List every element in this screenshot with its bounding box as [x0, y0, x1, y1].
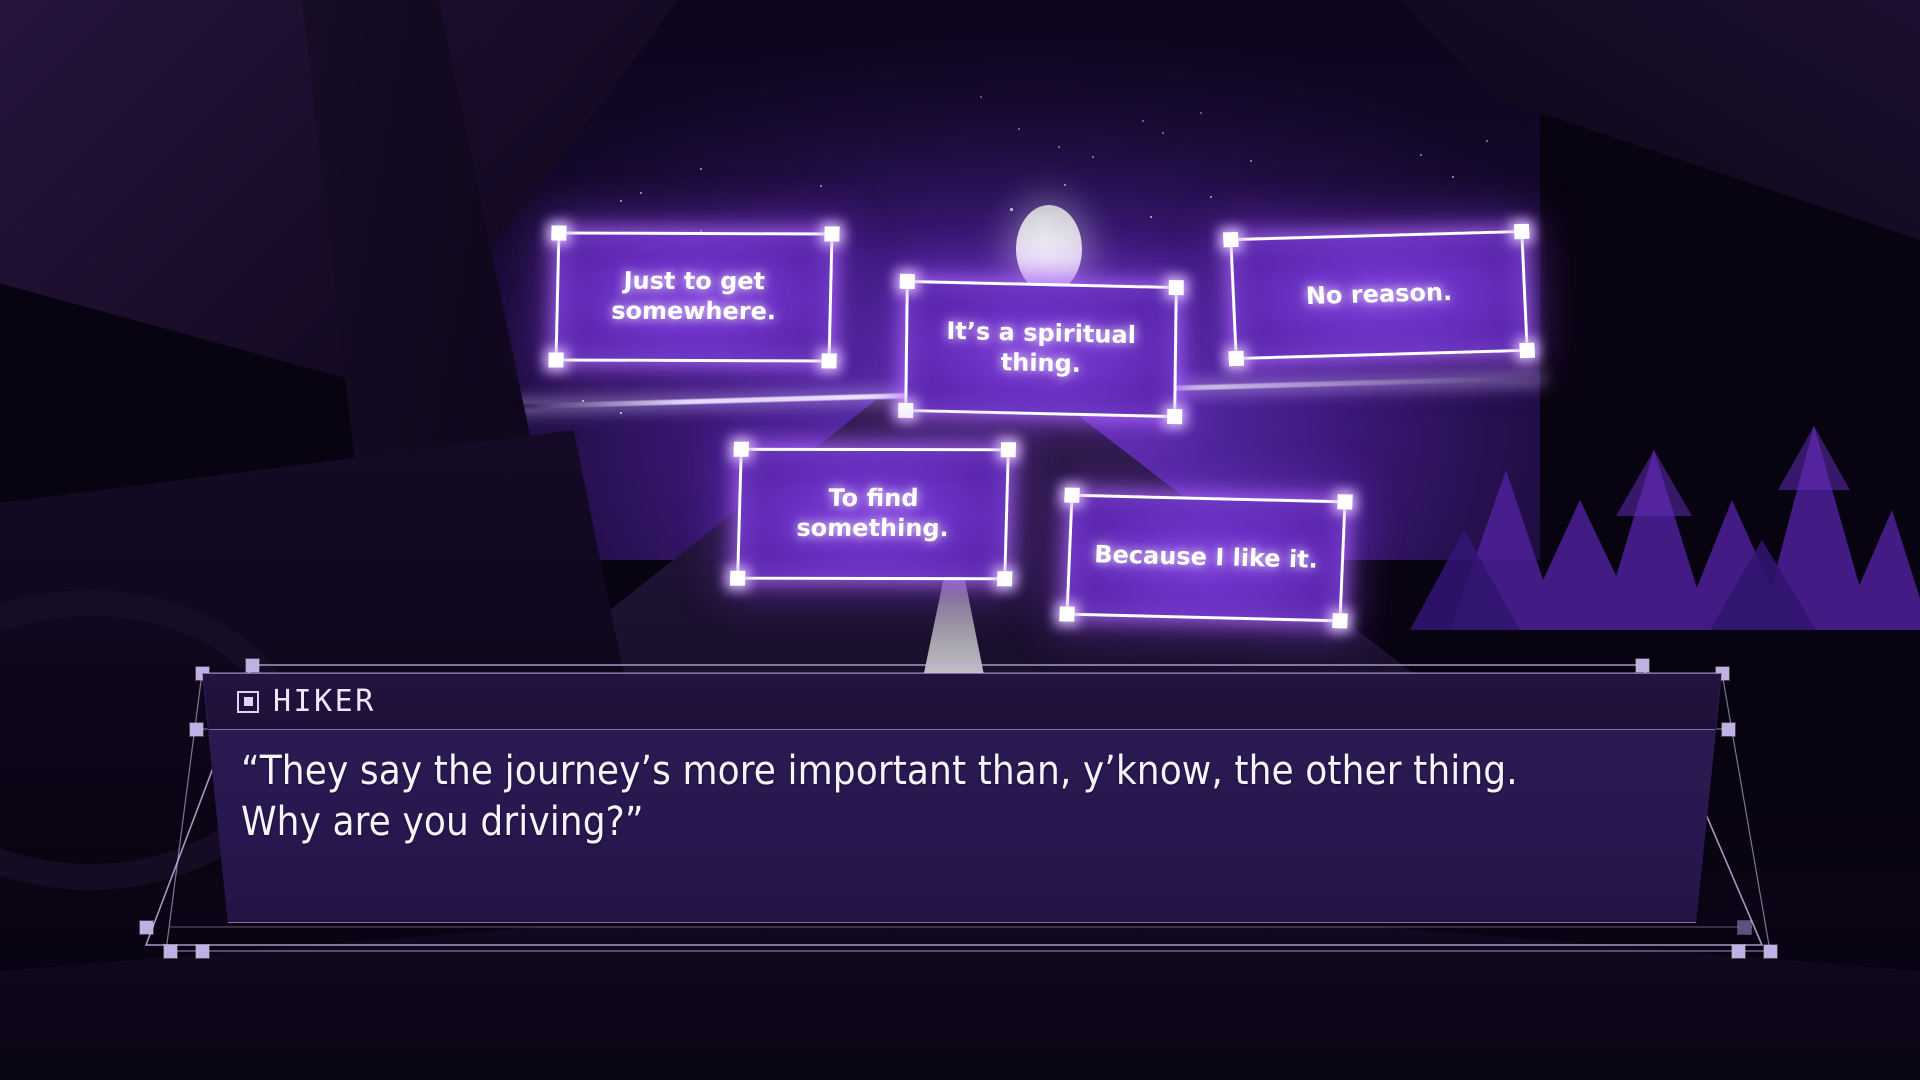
gizmo-handle-br2[interactable] — [1764, 945, 1777, 958]
dialogue-text: “They say the journey’s more important t… — [241, 746, 1683, 848]
gizmo-handle-bl3[interactable] — [196, 945, 209, 958]
game-screen: 97km Reptiles – Devin Vibert RADIO Just … — [0, 0, 1920, 1080]
choice-card-1[interactable]: It’s a spiritual thing. — [904, 280, 1178, 418]
gizmo-handle-mr[interactable] — [1722, 723, 1735, 736]
choice-label-0: Just to get somewhere. — [576, 267, 811, 327]
star — [620, 412, 622, 414]
choice-card-0[interactable]: Just to get somewhere. — [555, 232, 834, 363]
gizmo-handle-bl[interactable] — [140, 921, 153, 934]
speaker-bar: HIKER — [203, 674, 1721, 730]
speaker-name: HIKER — [273, 684, 376, 719]
gizmo-handle-br-dim[interactable] — [1738, 921, 1751, 934]
choice-label-2: No reason. — [1305, 278, 1453, 312]
choice-label-3: To find something. — [758, 484, 988, 544]
dialogue-box: HIKER “They say the journey’s more impor… — [0, 655, 1920, 985]
choice-label-1: It’s a spiritual thing. — [926, 317, 1157, 382]
gizmo-handle-bl2[interactable] — [164, 945, 177, 958]
choice-card-4[interactable]: Because I like it. — [1065, 494, 1346, 623]
choice-label-4: Because I like it. — [1094, 540, 1319, 575]
gizmo-handle-br[interactable] — [1732, 945, 1745, 958]
gizmo-handle-tr[interactable] — [1636, 659, 1649, 672]
gizmo-handle-tl[interactable] — [246, 659, 259, 672]
choice-card-3[interactable]: To find something. — [736, 448, 1010, 580]
choice-card-2[interactable]: No reason. — [1229, 230, 1528, 360]
dialogue-panel[interactable]: HIKER “They say the journey’s more impor… — [202, 673, 1722, 923]
square-in-square-icon — [237, 691, 259, 713]
gizmo-handle-ml[interactable] — [190, 723, 203, 736]
foliage-right — [1410, 330, 1920, 630]
